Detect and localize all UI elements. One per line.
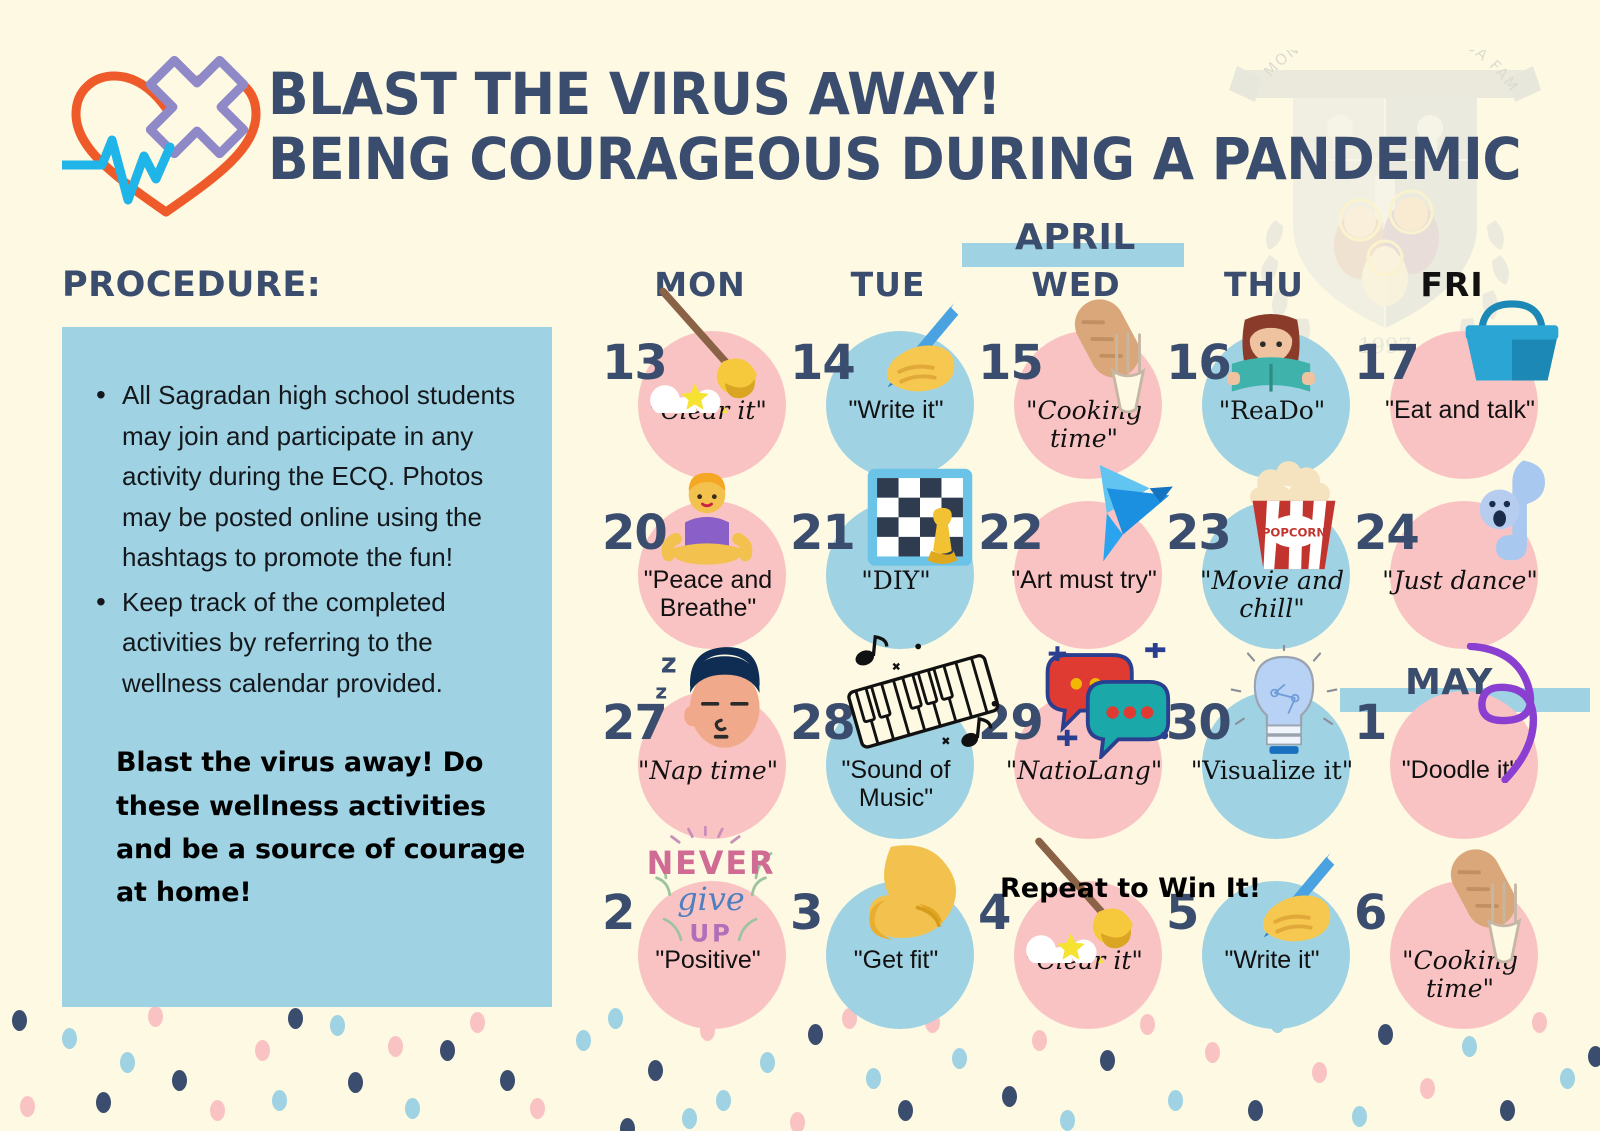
- confetti-dot: [255, 1040, 270, 1061]
- confetti-dot: [1100, 1050, 1115, 1071]
- dow-fri: FRI: [1357, 265, 1547, 304]
- confetti-dot: [620, 1118, 635, 1131]
- title-line-1: BLAST THE VIRUS AWAY!: [268, 62, 1521, 127]
- calendar-day-cell[interactable]: zz27"Nap time": [600, 673, 790, 863]
- day-number: 30: [1166, 695, 1231, 751]
- procedure-heading: PROCEDURE:: [62, 265, 321, 305]
- confetti-dot: [866, 1068, 881, 1089]
- confetti-dot: [1420, 1078, 1435, 1099]
- day-number: 14: [790, 335, 855, 391]
- confetti-dot: [20, 1096, 35, 1117]
- dow-wed: WED: [981, 265, 1171, 304]
- calendar-week-row: 20"Peace and Breathe"21"DIY"22"Art must …: [600, 483, 1590, 673]
- activity-label: "Cooking time": [994, 397, 1174, 452]
- confetti-dot: [716, 1090, 731, 1111]
- activity-label: "Positive": [618, 947, 798, 975]
- activity-label: "Movie and chill": [1182, 567, 1362, 622]
- confetti-dot: [210, 1100, 225, 1121]
- confetti-dot: [576, 1030, 591, 1051]
- day-number: 27: [602, 695, 667, 751]
- calendar-day-cell[interactable]: 17"Eat and talk": [1352, 313, 1542, 503]
- dow-thu: THU: [1169, 265, 1359, 304]
- calendar-day-cell[interactable]: 21"DIY": [788, 483, 978, 673]
- calendar-day-cell[interactable]: 20"Peace and Breathe": [600, 483, 790, 673]
- repeat-note: Repeat to Win It!: [1000, 873, 1261, 904]
- activity-label: "Eat and talk": [1370, 397, 1550, 425]
- activity-label: "Sound of Music": [806, 757, 986, 812]
- procedure-panel: All Sagradan high school students may jo…: [62, 327, 552, 1007]
- calendar-day-cell[interactable]: 6"Cooking time": [1352, 863, 1542, 1053]
- calendar-day-cell[interactable]: 14"Write it": [788, 313, 978, 503]
- confetti-dot: [62, 1028, 77, 1049]
- confetti-dot: [790, 1112, 805, 1131]
- confetti-dot: [530, 1098, 545, 1119]
- calendar-day-cell[interactable]: 24"Just dance": [1352, 483, 1542, 673]
- activity-label: "Clear it": [994, 947, 1174, 975]
- day-of-week-header: MON TUE WED THU FRI: [600, 265, 1590, 305]
- confetti-dot: [760, 1052, 775, 1073]
- confetti-dot: [120, 1052, 135, 1073]
- calendar-day-cell[interactable]: 3"Get fit": [788, 863, 978, 1053]
- day-number: 24: [1354, 505, 1419, 561]
- confetti-dot: [172, 1070, 187, 1091]
- confetti-dot: [348, 1072, 363, 1093]
- activity-label: "Doodle it": [1370, 757, 1550, 785]
- confetti-dot: [682, 1108, 697, 1129]
- confetti-dot: [388, 1036, 403, 1057]
- day-number: 29: [978, 695, 1043, 751]
- confetti-dot: [330, 1015, 345, 1036]
- procedure-bullet-list: All Sagradan high school students may jo…: [88, 375, 526, 703]
- confetti-dot: [648, 1060, 663, 1081]
- month-label-april: APRIL: [1015, 217, 1136, 258]
- activity-label: "Write it": [1182, 947, 1362, 975]
- calendar-week-row: 13"Clear it"14"Write it"15"Cooking time"…: [600, 313, 1590, 503]
- activity-label: "Write it": [806, 397, 986, 425]
- calendar-day-cell[interactable]: 28"Sound of Music": [788, 673, 978, 863]
- dow-mon: MON: [605, 265, 795, 304]
- activity-label: "Clear it": [618, 397, 798, 425]
- confetti-dot: [1248, 1100, 1263, 1121]
- activity-label: "DIY": [806, 567, 986, 595]
- heart-heartbeat-star-of-life-icon: [62, 52, 272, 222]
- calendar-day-cell[interactable]: 15"Cooking time": [976, 313, 1166, 503]
- title-line-2: BEING COURAGEOUS DURING A PANDEMIC: [268, 127, 1521, 192]
- day-number: 23: [1166, 505, 1231, 561]
- confetti-dot: [1500, 1100, 1515, 1121]
- calendar-day-cell[interactable]: POPCORN23"Movie and chill": [1164, 483, 1354, 673]
- day-number: 22: [978, 505, 1043, 561]
- month-label-may: MAY: [1405, 662, 1493, 703]
- day-number: 3: [790, 885, 822, 941]
- activity-label: "Just dance": [1370, 567, 1550, 595]
- day-number: 1: [1354, 695, 1386, 751]
- calendar-day-cell[interactable]: 16"ReaDo": [1164, 313, 1354, 503]
- confetti-dot: [500, 1070, 515, 1091]
- calendar-day-cell[interactable]: NEVERgiveUP2"Positive": [600, 863, 790, 1053]
- day-number: 2: [602, 885, 634, 941]
- calendar-day-cell[interactable]: 29"NatioLang": [976, 673, 1166, 863]
- confetti-dot: [898, 1100, 913, 1121]
- confetti-dot: [96, 1092, 111, 1113]
- confetti-dot: [12, 1010, 27, 1031]
- activity-label: "Visualize it": [1182, 757, 1362, 785]
- activity-label: "Peace and Breathe": [618, 567, 798, 622]
- day-number: 21: [790, 505, 855, 561]
- day-number: 15: [978, 335, 1043, 391]
- activity-label: "NatioLang": [994, 757, 1174, 785]
- confetti-dot: [1560, 1068, 1575, 1089]
- activity-label: "Get fit": [806, 947, 986, 975]
- confetti-dot: [470, 1012, 485, 1033]
- dow-tue: TUE: [793, 265, 983, 304]
- day-number: 20: [602, 505, 667, 561]
- confetti-dot: [1168, 1090, 1183, 1111]
- confetti-dot: [288, 1008, 303, 1029]
- calendar-day-cell[interactable]: 22"Art must try": [976, 483, 1166, 673]
- confetti-dot: [1352, 1106, 1367, 1127]
- confetti-dot: [1002, 1086, 1017, 1107]
- activity-label: "Nap time": [618, 757, 798, 785]
- poster-root: 1997 MONTESSORI DE SAGRADA FAMILIA BLAST…: [0, 0, 1600, 1131]
- activity-label: "Cooking time": [1370, 947, 1550, 1002]
- confetti-dot: [1312, 1062, 1327, 1083]
- confetti-dot: [272, 1090, 287, 1111]
- list-item: All Sagradan high school students may jo…: [88, 375, 526, 578]
- calendar-day-cell[interactable]: 30"Visualize it": [1164, 673, 1354, 863]
- day-number: 17: [1354, 335, 1419, 391]
- list-item: Keep track of the completed activities b…: [88, 582, 526, 704]
- closing-note: Blast the virus away! Do these wellness …: [88, 741, 526, 914]
- page-title: BLAST THE VIRUS AWAY! BEING COURAGEOUS D…: [268, 62, 1521, 192]
- confetti-dot: [148, 1006, 163, 1027]
- confetti-dot: [440, 1040, 455, 1061]
- activity-label: "Art must try": [994, 567, 1174, 595]
- day-number: 6: [1354, 885, 1386, 941]
- confetti-dot: [1060, 1110, 1075, 1131]
- day-number: 16: [1166, 335, 1231, 391]
- activity-label: "ReaDo": [1182, 397, 1362, 425]
- calendar-day-cell[interactable]: 13"Clear it": [600, 313, 790, 503]
- day-number: 13: [602, 335, 667, 391]
- day-number: 28: [790, 695, 855, 751]
- confetti-dot: [405, 1098, 420, 1119]
